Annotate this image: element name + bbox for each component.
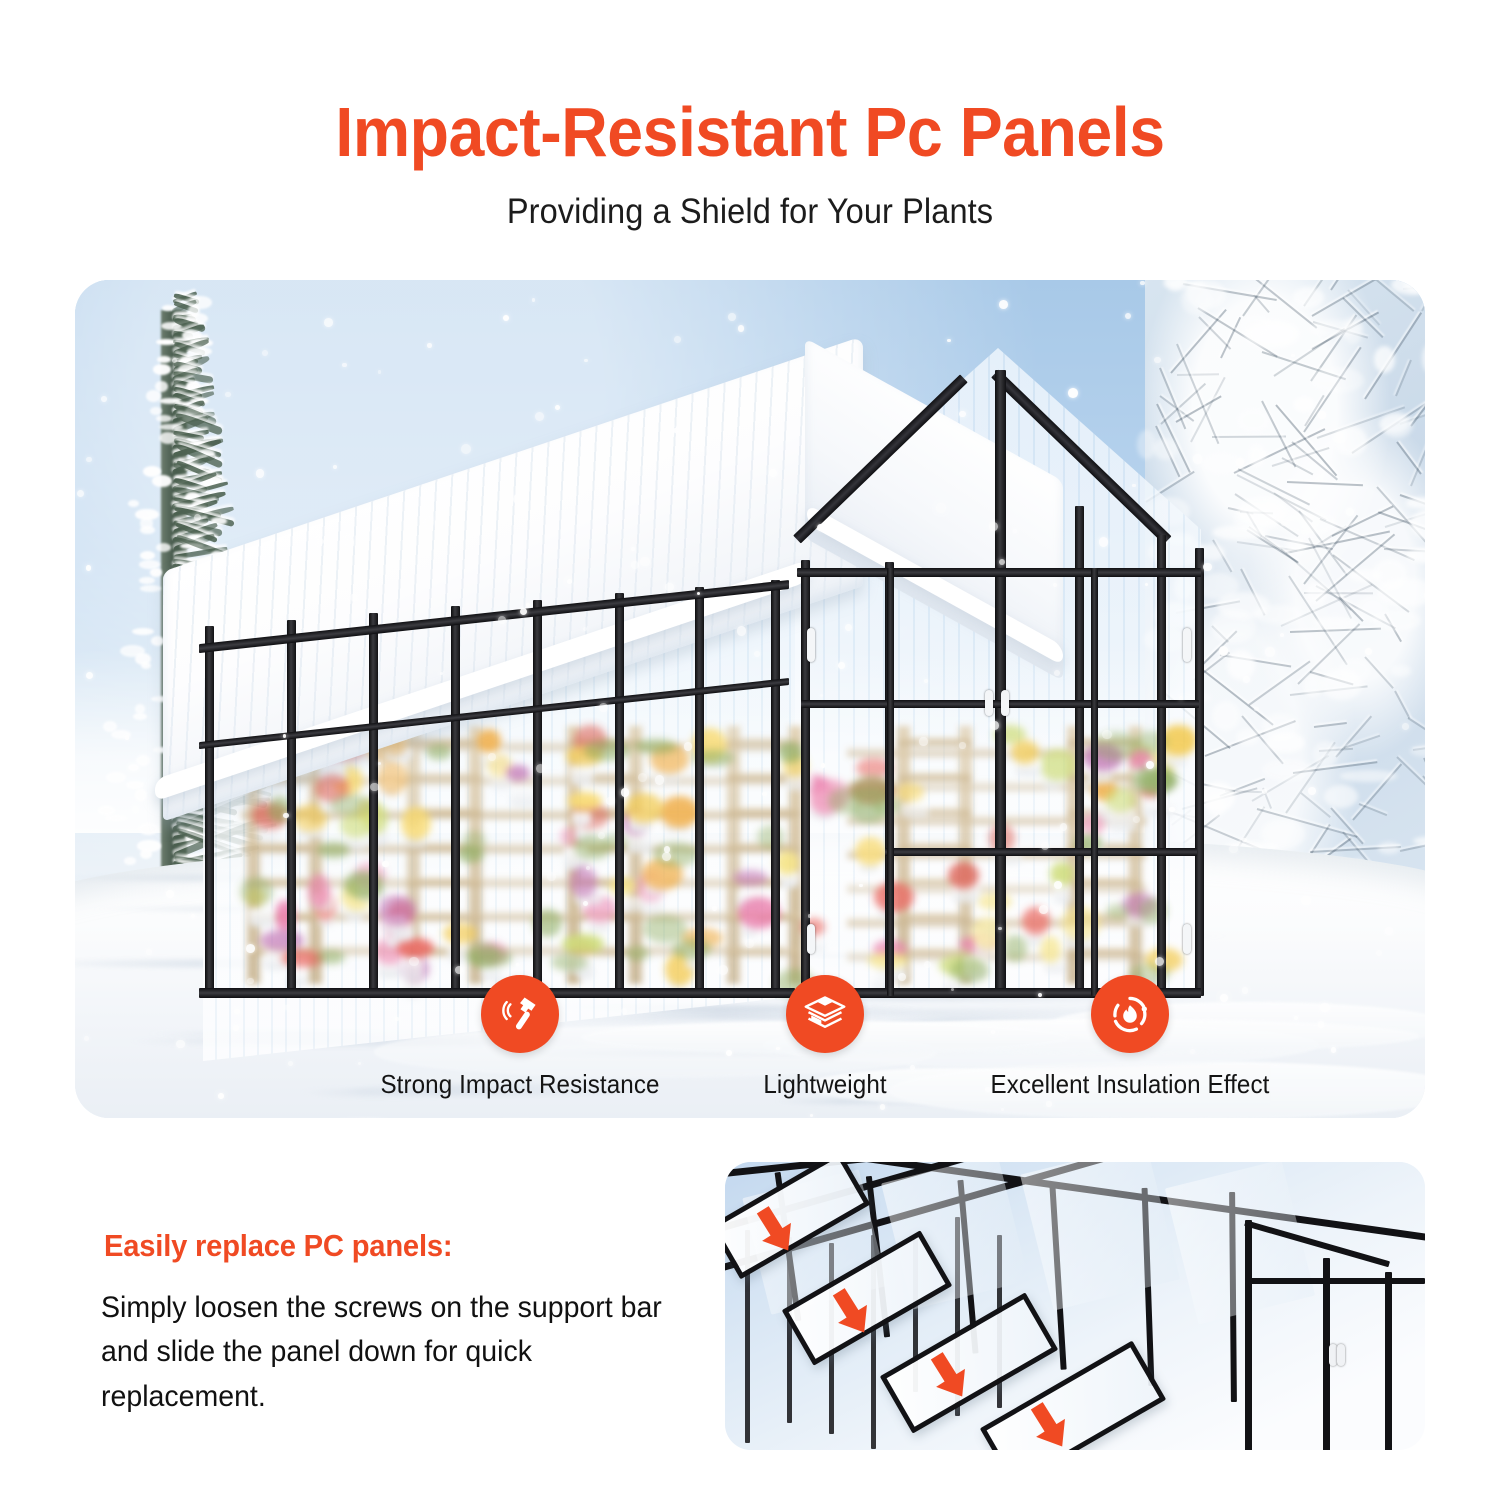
frame-rafter-left	[793, 374, 968, 543]
window-latch-right	[1183, 628, 1191, 662]
slide-direction-arrow	[747, 1202, 805, 1260]
frame-door-midrail	[885, 848, 1197, 856]
detail-glass	[1165, 1162, 1315, 1324]
feature-insulation: Excellent Insulation Effect	[975, 975, 1285, 1100]
door-stile-left	[887, 568, 894, 996]
window-latch-lower-left	[807, 924, 815, 954]
detail-post	[1385, 1272, 1392, 1450]
door-handle-left	[985, 690, 993, 716]
feature-label: Strong Impact Resistance	[376, 1069, 664, 1100]
page-subtitle: Providing a Shield for Your Plants	[53, 192, 1448, 232]
detail-corner-post	[1245, 1220, 1252, 1450]
window-latch-left	[807, 628, 815, 662]
window-latch-lower-right	[1183, 924, 1191, 954]
infographic-page: Impact-Resistant Pc Panels Providing a S…	[0, 0, 1500, 1500]
frame-post	[995, 370, 1006, 996]
frame-mullion	[287, 620, 296, 998]
frame-mullion	[533, 600, 542, 998]
stacked-panels-icon	[786, 975, 864, 1053]
greenhouse-structure	[195, 328, 1235, 1028]
greenhouse-roof-detail	[725, 1162, 1425, 1450]
detail-header-rail	[1245, 1278, 1425, 1284]
note-body: Simply loosen the screws on the support …	[101, 1286, 671, 1419]
slide-direction-arrow	[921, 1348, 979, 1406]
frame-post	[1157, 535, 1166, 996]
detail-glass	[1020, 1162, 1180, 1311]
frame-mullion	[615, 593, 624, 998]
feature-impact-resistance: Strong Impact Resistance	[365, 975, 675, 1100]
frame-door-header	[801, 700, 1199, 708]
feature-label: Lightweight	[718, 1069, 932, 1100]
door-stile-right	[1091, 568, 1098, 996]
frame-gable-rail	[797, 568, 1201, 577]
hero-greenhouse-image: Strong Impact Resistance Lightweight	[75, 280, 1425, 1118]
flame-insulation-icon	[1091, 975, 1169, 1053]
frame-mullion	[205, 626, 214, 998]
feature-label: Excellent Insulation Effect	[986, 1069, 1274, 1100]
feature-list: Strong Impact Resistance Lightweight	[365, 975, 1285, 1100]
slide-direction-arrow	[823, 1284, 881, 1342]
header: Impact-Resistant Pc Panels Providing a S…	[0, 0, 1500, 232]
frame-mullion	[369, 613, 378, 998]
aluminium-frame	[195, 328, 1235, 1028]
page-title: Impact-Resistant Pc Panels	[60, 96, 1440, 170]
frame-mullion	[451, 606, 460, 998]
detail-door-handle	[1337, 1344, 1345, 1366]
panel-replacement-image	[725, 1162, 1425, 1450]
feature-lightweight: Lightweight	[710, 975, 940, 1100]
slide-direction-arrow	[1021, 1398, 1079, 1450]
replace-panels-note: Easily replace PC panels: Simply loosen …	[86, 1228, 686, 1419]
door-handle-right	[1001, 690, 1009, 716]
detail-door-handle	[1329, 1344, 1337, 1366]
frame-post	[1075, 506, 1084, 996]
frame-mullion	[771, 580, 780, 998]
note-title: Easily replace PC panels:	[104, 1228, 668, 1264]
hammer-impact-icon	[481, 975, 559, 1053]
frame-post	[1195, 548, 1204, 996]
frame-mullion	[695, 587, 704, 998]
